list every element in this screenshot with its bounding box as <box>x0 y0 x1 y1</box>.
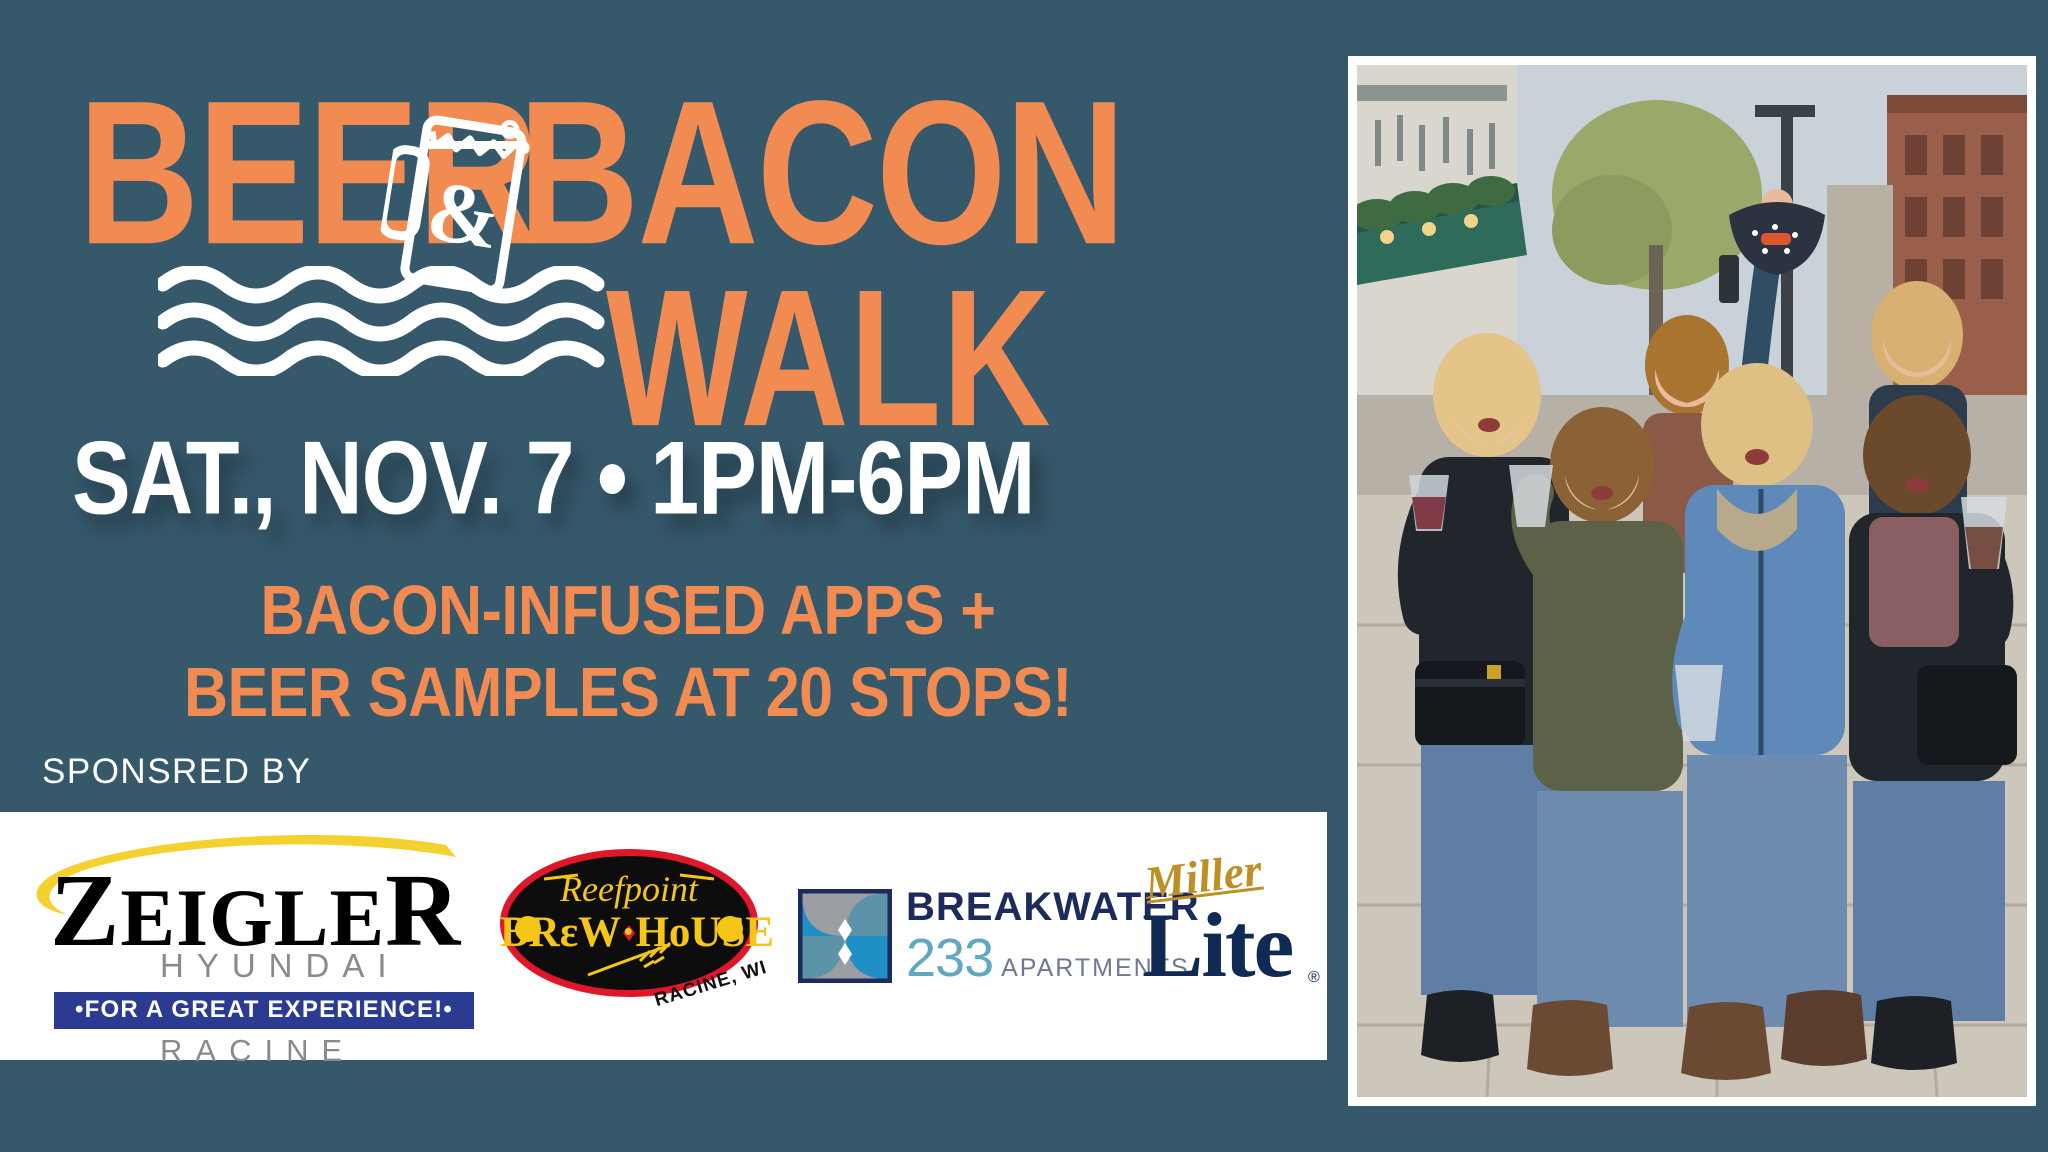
event-description: BACON-INFUSED APPS + BEER SAMPLES AT 20 … <box>78 570 1178 734</box>
zeigler-tagline-banner: •FOR A GREAT EXPERIENCE!• <box>54 992 474 1029</box>
zeigler-initial: Z <box>50 853 120 968</box>
sponsored-by-label: SPONSRED BY <box>42 752 311 792</box>
sponsor-logo-breakwater-233[interactable]: BREAKWATER 233 APARTMENTS <box>798 876 1098 996</box>
sponsor-logo-reefpoint-brew-house[interactable]: Reefpoint BRεW·HoUSE RACINE, WI <box>500 839 762 1034</box>
beer-mug-icon: & <box>372 96 540 306</box>
breakwater-number: 233 <box>906 931 993 985</box>
event-photo-illustration <box>1357 65 2027 1097</box>
miller-registered-mark: ® <box>1308 969 1320 987</box>
sponsor-logo-band: ZEIGLER HYUNDAI •FOR A GREAT EXPERIENCE!… <box>0 812 1327 1060</box>
event-logo: BEER BACON WALK <box>78 70 1148 400</box>
event-photo-frame <box>1348 56 2036 1106</box>
logo-word-bacon: BACON <box>518 70 1124 275</box>
sponsor-logo-zeigler-hyundai[interactable]: ZEIGLER HYUNDAI •FOR A GREAT EXPERIENCE!… <box>10 829 480 1044</box>
reefpoint-name-text: BRεW·HoUSE <box>500 911 758 954</box>
miller-lite-text: Lite <box>1142 899 1292 991</box>
description-line-1: BACON-INFUSED APPS + <box>78 570 1178 652</box>
event-date-time: SAT., NOV. 7 • 1PM-6PM <box>72 418 1034 538</box>
event-photo <box>1357 65 2027 1097</box>
zeigler-brand-hyundai: HYUNDAI <box>160 947 400 985</box>
event-poster: BEER BACON WALK <box>0 0 2048 1152</box>
reefpoint-script-text: Reefpoint <box>500 871 758 907</box>
description-line-2: BEER SAMPLES AT 20 STOPS! <box>78 652 1178 734</box>
poster-left-column: BEER BACON WALK <box>0 0 1330 1152</box>
sponsor-logo-miller-lite[interactable]: Miller Lite ® <box>1132 861 1332 1011</box>
zeigler-location-racine: RACINE <box>160 1033 355 1069</box>
svg-text:&: & <box>421 161 507 267</box>
breakwater-tile-icon <box>798 889 892 983</box>
